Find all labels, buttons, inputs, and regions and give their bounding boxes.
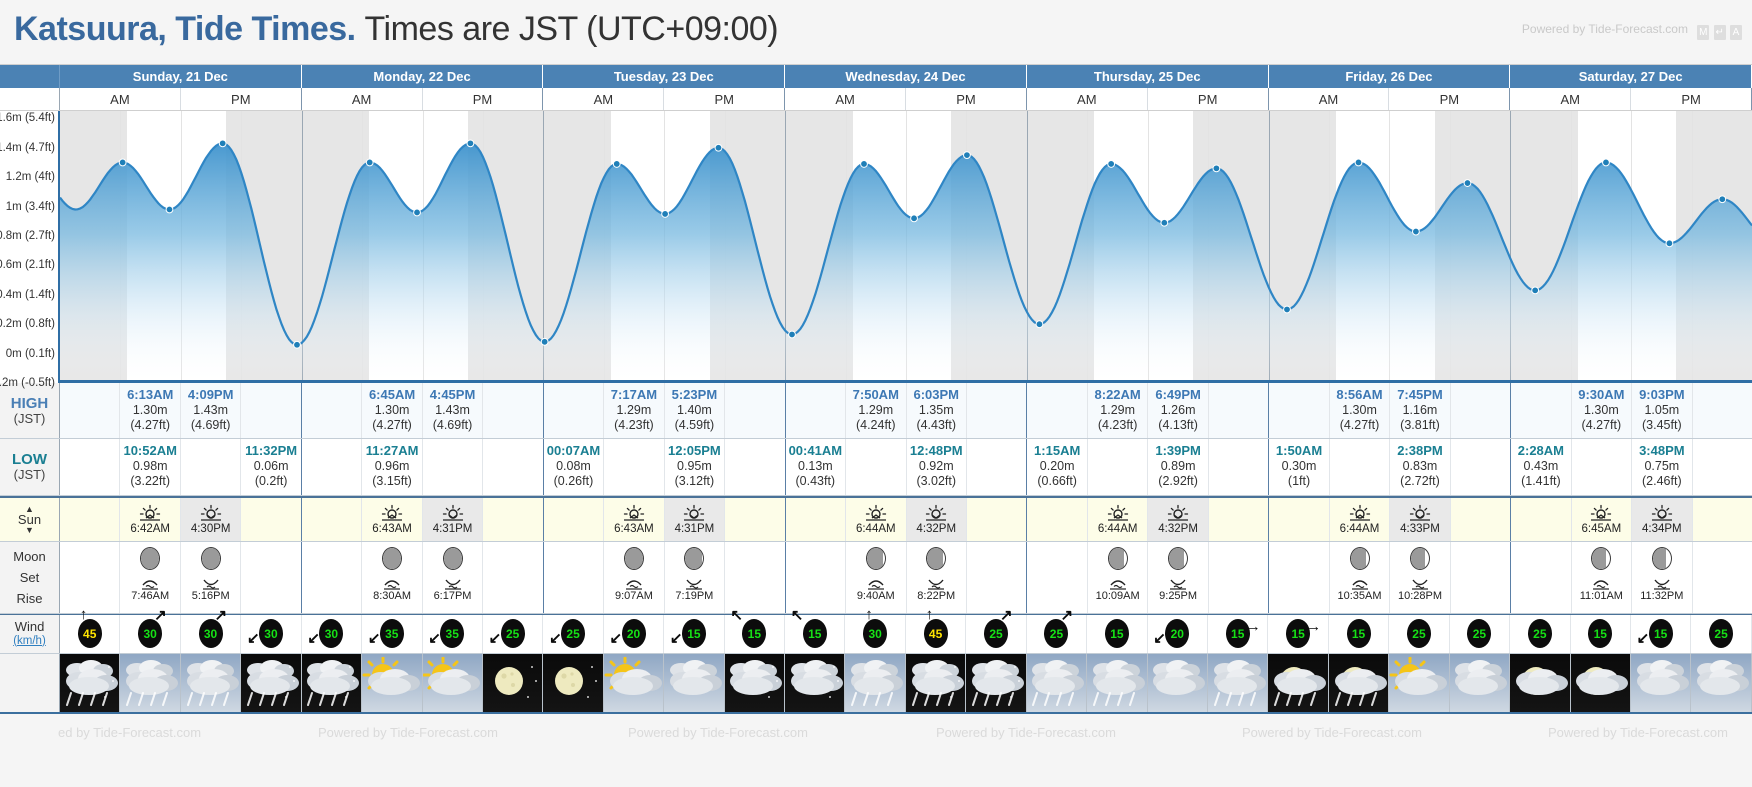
tide-extremum-marker-low[interactable] xyxy=(1532,287,1539,294)
high-tide-height-m: 1.30m xyxy=(362,403,421,418)
sunrise-icon xyxy=(139,504,161,522)
high-tide-entry[interactable]: 4:09PM1.43m(4.69ft) xyxy=(181,383,240,438)
sunset-cell: 4:34PM xyxy=(1632,498,1692,541)
wind-slot[interactable]: 15↙ xyxy=(664,615,724,653)
wind-speed-badge: 15↖ xyxy=(803,619,827,648)
low-tide-empty xyxy=(1572,439,1631,489)
weather-cell[interactable] xyxy=(1027,654,1087,712)
day-header-label: Monday, 22 Dec xyxy=(302,65,543,88)
badge-arrow-icon[interactable]: ↵ xyxy=(1714,25,1726,40)
low-tide-day-3: 00:41AM0.13m(0.43ft) 12:48PM0.92m(3.02ft… xyxy=(786,439,1028,494)
wind-slot[interactable]: 25 xyxy=(1691,615,1751,653)
low-tide-height-m: 0.20m xyxy=(1027,459,1086,474)
low-tide-time: 1:15AM xyxy=(1027,443,1086,459)
sunrise-icon xyxy=(1349,504,1371,522)
tide-area-fill xyxy=(60,143,1752,383)
low-tide-slot xyxy=(1572,439,1632,494)
tide-extremum-marker-low[interactable] xyxy=(1666,240,1673,247)
moonset-cell: 10:28PM xyxy=(1390,542,1450,613)
footer-powered-5: Powered by Tide-Forecast.com xyxy=(1242,725,1422,740)
high-tide-height-ft: (4.69ft) xyxy=(181,418,240,433)
ampm-cell-am: AM xyxy=(543,88,664,110)
wind-slot[interactable]: 25 xyxy=(1450,615,1510,653)
high-tide-entry[interactable]: 7:50AM1.29m(4.24ft) xyxy=(846,383,905,438)
low-tide-slot: 00:07AM0.08m(0.26ft) xyxy=(544,439,604,494)
wind-slot[interactable]: 30↗ xyxy=(181,615,241,653)
badge-a-icon[interactable]: A xyxy=(1730,25,1742,40)
sunrise-time: 6:43AM xyxy=(614,523,654,535)
tide-extremum-marker-high[interactable] xyxy=(715,144,722,151)
high-tide-entry[interactable]: 6:49PM1.26m(4.13ft) xyxy=(1148,383,1207,438)
y-axis-tick-label: 0.6m (2.1ft) xyxy=(0,259,55,271)
moonrise-icon xyxy=(381,576,403,590)
sun-day-0: 6:42AM4:30PM xyxy=(60,498,302,541)
wind-speed-value: 20 xyxy=(1171,627,1184,641)
sunrise-cell: 6:44AM xyxy=(846,498,906,541)
weather-cell[interactable] xyxy=(1510,654,1570,712)
wind-direction-arrow-icon: ↙ xyxy=(610,631,623,646)
wind-speed-badge: 15→ xyxy=(1286,619,1310,648)
tide-extremum-marker-low[interactable] xyxy=(789,331,796,338)
low-tide-entry[interactable]: 00:07AM0.08m(0.26ft) xyxy=(544,439,603,494)
wind-slot[interactable]: 25↗ xyxy=(966,615,1026,653)
sunrise-icon xyxy=(865,504,887,522)
wind-speed-value: 15 xyxy=(1352,627,1365,641)
weather-clear-night-icon xyxy=(543,657,603,709)
wind-speed-value: 15 xyxy=(808,627,821,641)
moon-cells: 7:46AM5:16PM8:30AM6:17PM9:07AM7:19PM9:40… xyxy=(60,542,1752,613)
day-header-row: Sunday, 21 DecMonday, 22 DecTuesday, 23 … xyxy=(0,65,1752,88)
moon-phase-icon xyxy=(1168,547,1188,570)
high-tide-slot: 6:45AM1.30m(4.27ft) xyxy=(362,383,422,438)
ampm-day-1: AMPM xyxy=(302,88,544,110)
sunset-time: 4:32PM xyxy=(1158,523,1198,535)
wind-speed-value: 15 xyxy=(1110,627,1123,641)
wind-slot[interactable]: 30↗ xyxy=(120,615,180,653)
low-tide-slot xyxy=(846,439,906,494)
low-tide-slot: 11:27AM0.96m(3.15ft) xyxy=(362,439,422,494)
wind-speed-value: 25 xyxy=(506,627,519,641)
tide-extremum-marker-low[interactable] xyxy=(1284,306,1291,313)
wind-slot[interactable]: 20↙ xyxy=(604,615,664,653)
weather-cell[interactable] xyxy=(302,654,362,712)
weather-rain-day-icon xyxy=(181,657,241,709)
low-tide-entry[interactable]: 1:39PM0.89m(2.92ft) xyxy=(1148,439,1207,494)
tide-extremum-marker-low[interactable] xyxy=(662,211,669,218)
weather-cell[interactable] xyxy=(1571,654,1631,712)
wind-slot[interactable]: 15↙ xyxy=(1631,615,1691,653)
high-tide-slot: 5:23PM1.40m(4.59ft) xyxy=(665,383,725,438)
wind-slot[interactable]: 25 xyxy=(1510,615,1570,653)
wind-slot[interactable]: 35↙ xyxy=(423,615,483,653)
low-tide-entry[interactable]: 1:50AM0.30m(1ft) xyxy=(1269,439,1328,494)
tide-extremum-marker-high[interactable] xyxy=(861,161,868,168)
sunset-time: 4:31PM xyxy=(433,523,473,535)
wind-slot[interactable]: 30↙ xyxy=(241,615,301,653)
wind-speed-value: 25 xyxy=(1714,627,1727,641)
moonset-cell: 9:25PM xyxy=(1148,542,1208,613)
wind-slot[interactable]: 20↙ xyxy=(1148,615,1208,653)
weather-cell[interactable] xyxy=(1208,654,1268,712)
ampm-cell-am: AM xyxy=(1027,88,1148,110)
sun-empty-cell xyxy=(1269,498,1329,541)
moonrise-icon xyxy=(1590,576,1612,590)
high-tide-entry[interactable]: 4:45PM1.43m(4.69ft) xyxy=(423,383,482,438)
high-tide-entry[interactable]: 9:03PM1.05m(3.45ft) xyxy=(1632,383,1691,438)
day-column-0: Sunday, 21 Dec xyxy=(60,65,302,88)
high-tide-entry[interactable]: 6:03PM1.35m(4.43ft) xyxy=(907,383,966,438)
weather-cell[interactable] xyxy=(664,654,724,712)
high-tide-entry[interactable]: 6:45AM1.30m(4.27ft) xyxy=(362,383,421,438)
tide-extremum-marker-low[interactable] xyxy=(541,338,548,345)
moon-set-label: Set xyxy=(20,570,40,585)
high-tide-time: 7:50AM xyxy=(846,387,905,403)
weather-cell[interactable] xyxy=(845,654,905,712)
sun-empty-cell xyxy=(786,498,846,541)
wind-direction-arrow-icon: ↙ xyxy=(1153,631,1166,646)
low-tide-slot: 12:05PM0.95m(3.12ft) xyxy=(665,439,725,494)
low-tide-slot: 1:50AM0.30m(1ft) xyxy=(1269,439,1329,494)
high-tide-height-m: 1.43m xyxy=(181,403,240,418)
low-tide-entry[interactable]: 1:15AM0.20m(0.66ft) xyxy=(1027,439,1086,494)
high-tide-time: 4:45PM xyxy=(423,387,482,403)
wind-speed-badge: 25↙ xyxy=(501,619,525,648)
wind-row: Wind (km/h) 45↑30↗30↗30↙30↙35↙35↙25↙25↙2… xyxy=(0,614,1752,654)
weather-rain-moon-icon xyxy=(1268,657,1328,709)
wind-slot[interactable]: 35↙ xyxy=(362,615,422,653)
page-title-location: Katsuura, Tide Times. xyxy=(14,10,356,48)
low-tide-slot: 2:38PM0.83m(2.72ft) xyxy=(1390,439,1450,494)
weather-cell[interactable] xyxy=(181,654,241,712)
moon-day-3: 9:40AM8:22PM xyxy=(786,542,1028,613)
sun-row: ▲ Sun ▼ 6:42AM4:30PM6:43AM4:31PM6:43AM4:… xyxy=(0,496,1752,542)
sunset-cell: 4:33PM xyxy=(1390,498,1450,541)
wind-direction-arrow-icon: ↑ xyxy=(926,607,934,622)
moonset-cell: 11:32PM xyxy=(1632,542,1692,613)
weather-cloud-night-icon xyxy=(725,657,785,709)
tide-table: Sunday, 21 DecMonday, 22 DecTuesday, 23 … xyxy=(0,64,1752,712)
tide-extremum-marker-low[interactable] xyxy=(1036,321,1043,328)
low-tide-height-m: 0.98m xyxy=(120,459,179,474)
moon-empty-cell xyxy=(967,542,1026,613)
tide-extremum-marker-high[interactable] xyxy=(964,152,971,159)
tide-extremum-marker-high[interactable] xyxy=(1213,165,1220,172)
sunset-time: 4:34PM xyxy=(1642,523,1682,535)
weather-rain-night-icon xyxy=(241,657,301,709)
high-tide-time: 6:49PM xyxy=(1148,387,1207,403)
low-tide-empty xyxy=(60,439,119,489)
high-tide-empty xyxy=(1027,383,1086,433)
weather-cell[interactable] xyxy=(120,654,180,712)
moon-row: Moon Set Rise 7:46AM5:16PM8:30AM6:17PM9:… xyxy=(0,542,1752,614)
weather-cell[interactable] xyxy=(543,654,603,712)
low-tide-entry[interactable]: 3:48PM0.75m(2.46ft) xyxy=(1632,439,1691,494)
wind-speed-value: 25 xyxy=(566,627,579,641)
sun-day-5: 6:44AM4:33PM xyxy=(1269,498,1511,541)
high-tide-height-m: 1.29m xyxy=(846,403,905,418)
weather-cell[interactable] xyxy=(1148,654,1208,712)
weather-cell[interactable] xyxy=(60,654,120,712)
ampm-cell-pm: PM xyxy=(423,88,543,110)
weather-cell[interactable] xyxy=(1450,654,1510,712)
high-tide-day-4: 8:22AM1.29m(4.23ft)6:49PM1.26m(4.13ft) xyxy=(1027,383,1269,438)
wind-slot[interactable]: 30↙ xyxy=(302,615,362,653)
tide-chart-plot[interactable] xyxy=(60,111,1752,383)
wind-direction-arrow-icon: ↙ xyxy=(549,631,562,646)
sun-day-4: 6:44AM4:32PM xyxy=(1027,498,1269,541)
low-tide-height-m: 0.83m xyxy=(1390,459,1449,474)
moon-day-5: 10:35AM10:28PM xyxy=(1269,542,1511,613)
weather-cell[interactable] xyxy=(241,654,301,712)
moon-phase-icon xyxy=(1410,547,1430,570)
day-header-label: Saturday, 27 Dec xyxy=(1510,65,1751,88)
moon-phase-icon xyxy=(684,547,704,570)
wind-speed-badge: 30↑ xyxy=(863,619,887,648)
weather-cell[interactable] xyxy=(483,654,543,712)
footer-powered-4: Powered by Tide-Forecast.com xyxy=(936,725,1116,740)
low-tide-entry[interactable]: 11:27AM0.96m(3.15ft) xyxy=(362,439,421,494)
sunrise-time: 6:44AM xyxy=(1340,523,1380,535)
high-tide-slot xyxy=(1693,383,1752,438)
high-tide-entry[interactable]: 9:30AM1.30m(4.27ft) xyxy=(1572,383,1631,438)
sunrise-time: 6:43AM xyxy=(372,523,412,535)
weather-cell[interactable] xyxy=(725,654,785,712)
high-tide-slot xyxy=(967,383,1026,438)
wind-slot[interactable]: 15 xyxy=(1571,615,1631,653)
weather-cell[interactable] xyxy=(423,654,483,712)
high-tide-empty xyxy=(483,383,542,433)
ampm-cell-am: AM xyxy=(785,88,906,110)
low-tide-empty xyxy=(967,439,1026,489)
high-tide-entry[interactable]: 7:17AM1.29m(4.23ft) xyxy=(604,383,663,438)
wind-slot[interactable]: 15→ xyxy=(1268,615,1328,653)
low-tide-time: 2:38PM xyxy=(1390,443,1449,459)
high-tide-slot xyxy=(302,383,362,438)
wind-slot[interactable]: 30↑ xyxy=(845,615,905,653)
wind-speed-badge: 45↑ xyxy=(924,619,948,648)
tide-extremum-marker-high[interactable] xyxy=(1464,180,1471,187)
wind-slot[interactable]: 25↙ xyxy=(483,615,543,653)
high-tide-empty xyxy=(302,383,361,433)
high-tide-slot xyxy=(1209,383,1268,438)
wind-slot[interactable]: 45↑ xyxy=(60,615,120,653)
high-tide-height-ft: (3.81ft) xyxy=(1390,418,1449,433)
wind-slot[interactable]: 25↙ xyxy=(543,615,603,653)
low-tide-entry[interactable]: 2:28AM0.43m(1.41ft) xyxy=(1511,439,1570,494)
wind-speed-badge: 25↗ xyxy=(984,619,1008,648)
high-tide-height-ft: (4.27ft) xyxy=(1572,418,1631,433)
low-tide-entry[interactable]: 00:41AM0.13m(0.43ft) xyxy=(786,439,845,494)
moon-phase-icon xyxy=(926,547,946,570)
weather-cell[interactable] xyxy=(1691,654,1751,712)
wind-slot[interactable]: 15 xyxy=(1329,615,1389,653)
high-tide-entry[interactable]: 5:23PM1.40m(4.59ft) xyxy=(665,383,724,438)
high-tide-time: 4:09PM xyxy=(181,387,240,403)
moon-empty-cell xyxy=(1511,542,1571,613)
weather-cell[interactable] xyxy=(966,654,1026,712)
tide-extremum-marker-high[interactable] xyxy=(1355,159,1362,166)
badge-m-icon[interactable]: M xyxy=(1697,25,1709,40)
tide-extremum-marker-high[interactable] xyxy=(219,140,226,147)
high-tide-height-m: 1.16m xyxy=(1390,403,1449,418)
ampm-cells: AMPMAMPMAMPMAMPMAMPMAMPMAMPM xyxy=(60,88,1752,110)
low-tide-empty xyxy=(1451,439,1510,489)
tide-extremum-marker-low[interactable] xyxy=(166,206,173,213)
wind-speed-badge: 30↙ xyxy=(259,619,283,648)
wind-speed-badge: 30↗ xyxy=(199,619,223,648)
wind-direction-arrow-icon: → xyxy=(1306,619,1321,634)
low-tide-empty xyxy=(1088,439,1147,489)
wind-speed-value: 15 xyxy=(1594,627,1607,641)
wind-speed-value: 20 xyxy=(627,627,640,641)
ampm-day-6: AMPM xyxy=(1510,88,1752,110)
sun-empty-cell xyxy=(544,498,604,541)
weather-part-sun-icon xyxy=(1389,657,1449,709)
ampm-cell-pm: PM xyxy=(1631,88,1751,110)
y-axis-tick-label: 0.8m (2.7ft) xyxy=(0,230,55,242)
weather-cell[interactable] xyxy=(785,654,845,712)
weather-cell[interactable] xyxy=(362,654,422,712)
high-tide-slot: 4:09PM1.43m(4.69ft) xyxy=(181,383,241,438)
wind-slot[interactable]: 15→ xyxy=(1208,615,1268,653)
weather-rain-day-icon xyxy=(1087,657,1147,709)
weather-cell[interactable] xyxy=(1329,654,1389,712)
moon-day-4: 10:09AM9:25PM xyxy=(1027,542,1269,613)
low-tide-height-m: 0.75m xyxy=(1632,459,1691,474)
header-badges: M ↵ A xyxy=(1696,24,1742,40)
sun-day-2: 6:43AM4:31PM xyxy=(544,498,786,541)
weather-rain-moon-icon xyxy=(1329,657,1389,709)
weather-rain-day-icon xyxy=(1027,657,1087,709)
moon-phase-icon xyxy=(201,547,221,570)
page-title: Katsuura, Tide Times. Times are JST (UTC… xyxy=(0,0,1752,49)
ampm-cell-am: AM xyxy=(60,88,181,110)
high-tide-slot: 6:13AM1.30m(4.27ft) xyxy=(120,383,180,438)
weather-clear-night-icon xyxy=(483,657,543,709)
tide-extremum-marker-low[interactable] xyxy=(1413,228,1420,235)
day-column-1: Monday, 22 Dec xyxy=(302,65,544,88)
high-tide-height-ft: (4.59ft) xyxy=(665,418,724,433)
weather-cells xyxy=(60,654,1752,712)
tide-extremum-marker-low[interactable] xyxy=(294,341,301,348)
low-tide-slot: 1:39PM0.89m(2.92ft) xyxy=(1148,439,1208,494)
ampm-cell-pm: PM xyxy=(906,88,1026,110)
high-tide-entry[interactable]: 7:45PM1.16m(3.81ft) xyxy=(1390,383,1449,438)
wind-slot[interactable]: 15↖ xyxy=(725,615,785,653)
day-column-2: Tuesday, 23 Dec xyxy=(543,65,785,88)
moonset-icon xyxy=(683,576,705,590)
sunset-cell: 4:32PM xyxy=(1148,498,1208,541)
weather-cell[interactable] xyxy=(906,654,966,712)
tide-extremum-marker-high[interactable] xyxy=(1108,161,1115,168)
low-tide-slot: 3:48PM0.75m(2.46ft) xyxy=(1632,439,1692,494)
high-tide-height-ft: (4.69ft) xyxy=(423,418,482,433)
high-tide-slot: 9:03PM1.05m(3.45ft) xyxy=(1632,383,1692,438)
weather-cell[interactable] xyxy=(1631,654,1691,712)
tide-extremum-marker-high[interactable] xyxy=(467,140,474,147)
low-tide-height-ft: (2.46ft) xyxy=(1632,474,1691,489)
tide-extremum-marker-high[interactable] xyxy=(1603,159,1610,166)
wind-slot[interactable]: 15 xyxy=(1087,615,1147,653)
tide-extremum-marker-high[interactable] xyxy=(366,159,373,166)
tide-extremum-marker-low[interactable] xyxy=(1161,219,1168,226)
wind-speed-badge: 20↙ xyxy=(622,619,646,648)
sunset-icon xyxy=(1167,504,1189,522)
wind-direction-arrow-icon: ↗ xyxy=(1000,608,1013,623)
high-tide-slot: 6:49PM1.26m(4.13ft) xyxy=(1148,383,1208,438)
tide-extremum-marker-low[interactable] xyxy=(911,215,918,222)
wind-speed-value: 35 xyxy=(385,627,398,641)
low-tide-entry[interactable]: 12:48PM0.92m(3.02ft) xyxy=(907,439,966,494)
day-header-cells: Sunday, 21 DecMonday, 22 DecTuesday, 23 … xyxy=(60,65,1752,88)
wind-speed-value: 25 xyxy=(1412,627,1425,641)
high-tide-height-m: 1.40m xyxy=(665,403,724,418)
high-tide-empty xyxy=(60,383,119,433)
weather-rain-night-icon xyxy=(906,657,966,709)
tide-extremum-marker-high[interactable] xyxy=(613,161,620,168)
moonset-icon xyxy=(1409,576,1431,590)
sun-empty-cell xyxy=(1451,498,1510,541)
tide-extremum-marker-high[interactable] xyxy=(119,159,126,166)
day-header-label: Sunday, 21 Dec xyxy=(60,65,301,88)
weather-cell[interactable] xyxy=(1389,654,1449,712)
low-tide-label: LOW (JST) xyxy=(0,439,60,494)
low-tide-entry[interactable]: 12:05PM0.95m(3.12ft) xyxy=(665,439,724,494)
high-tide-label: HIGH (JST) xyxy=(0,383,60,438)
wind-slot[interactable]: 45↑ xyxy=(906,615,966,653)
wind-slot[interactable]: 15↖ xyxy=(785,615,845,653)
weather-rain-day-icon xyxy=(845,657,905,709)
low-tide-entry[interactable]: 11:32PM0.06m(0.2ft) xyxy=(241,439,300,494)
sun-empty-cell xyxy=(241,498,300,541)
low-tide-slot xyxy=(1088,439,1148,494)
weather-cloud-day-icon xyxy=(1691,657,1751,709)
low-tide-row: LOW (JST) 10:52AM0.98m(3.22ft) 11:32PM0.… xyxy=(0,439,1752,495)
moon-empty-cell xyxy=(1269,542,1329,613)
wind-unit-link[interactable]: (km/h) xyxy=(13,635,46,648)
high-tide-time: 6:45AM xyxy=(362,387,421,403)
weather-cell[interactable] xyxy=(1268,654,1328,712)
high-tide-height-m: 1.29m xyxy=(1088,403,1147,418)
low-tide-entry[interactable]: 2:38PM0.83m(2.72ft) xyxy=(1390,439,1449,494)
low-tide-slot: 2:28AM0.43m(1.41ft) xyxy=(1511,439,1571,494)
wind-slot[interactable]: 25↗ xyxy=(1027,615,1087,653)
tide-extremum-marker-high[interactable] xyxy=(1719,196,1726,203)
wind-speed-badge: 35↙ xyxy=(440,619,464,648)
high-tide-entry[interactable]: 6:13AM1.30m(4.27ft) xyxy=(120,383,179,438)
low-tide-day-1: 11:27AM0.96m(3.15ft) xyxy=(302,439,544,494)
sunrise-time: 6:45AM xyxy=(1582,523,1622,535)
moon-empty-cell xyxy=(786,542,846,613)
weather-cell[interactable] xyxy=(604,654,664,712)
high-tide-height-ft: (4.13ft) xyxy=(1148,418,1207,433)
tide-extremum-marker-low[interactable] xyxy=(414,209,421,216)
high-tide-entry[interactable]: 8:22AM1.29m(4.23ft) xyxy=(1088,383,1147,438)
low-tide-time: 00:07AM xyxy=(544,443,603,459)
wind-direction-arrow-icon: ↖ xyxy=(791,608,804,623)
low-tide-entry[interactable]: 10:52AM0.98m(3.22ft) xyxy=(120,439,179,494)
weather-cell[interactable] xyxy=(1087,654,1147,712)
weather-row xyxy=(0,654,1752,712)
wind-slot[interactable]: 25 xyxy=(1389,615,1449,653)
high-tide-height-m: 1.35m xyxy=(907,403,966,418)
moonrise-cell: 9:07AM xyxy=(604,542,664,613)
day-header-label: Thursday, 25 Dec xyxy=(1027,65,1268,88)
moonset-icon xyxy=(925,576,947,590)
moon-phase-icon xyxy=(624,547,644,570)
high-tide-entry[interactable]: 8:56AM1.30m(4.27ft) xyxy=(1330,383,1389,438)
high-tide-row: HIGH (JST) 6:13AM1.30m(4.27ft)4:09PM1.43… xyxy=(0,383,1752,439)
